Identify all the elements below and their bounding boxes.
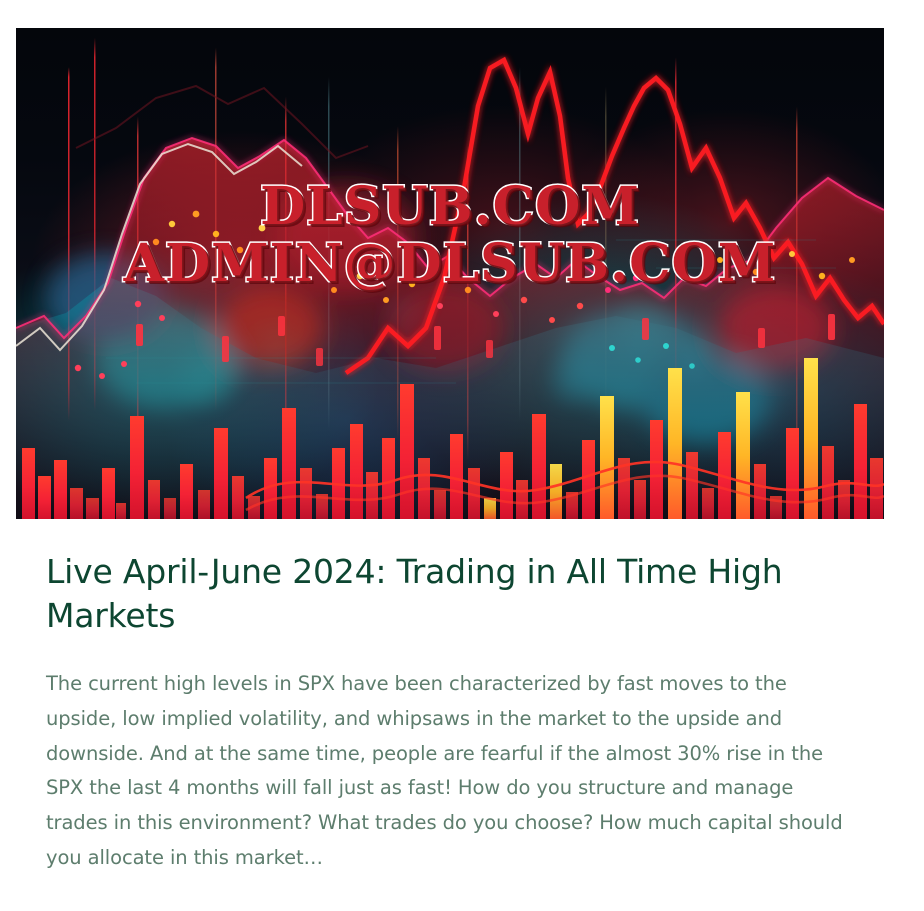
hero-chart-graphics xyxy=(16,28,884,519)
article-content: Live April-June 2024: Trading in All Tim… xyxy=(46,550,866,875)
page-title[interactable]: Live April-June 2024: Trading in All Tim… xyxy=(46,550,856,637)
article-excerpt: The current high levels in SPX have been… xyxy=(46,667,846,875)
hero-image: DLSUB.COM ADMIN@DLSUB.COM xyxy=(16,28,884,519)
dark-red-line-series xyxy=(76,86,368,158)
hero-artwork xyxy=(16,28,884,519)
article-page: DLSUB.COM ADMIN@DLSUB.COM Live April-Jun… xyxy=(0,0,924,911)
